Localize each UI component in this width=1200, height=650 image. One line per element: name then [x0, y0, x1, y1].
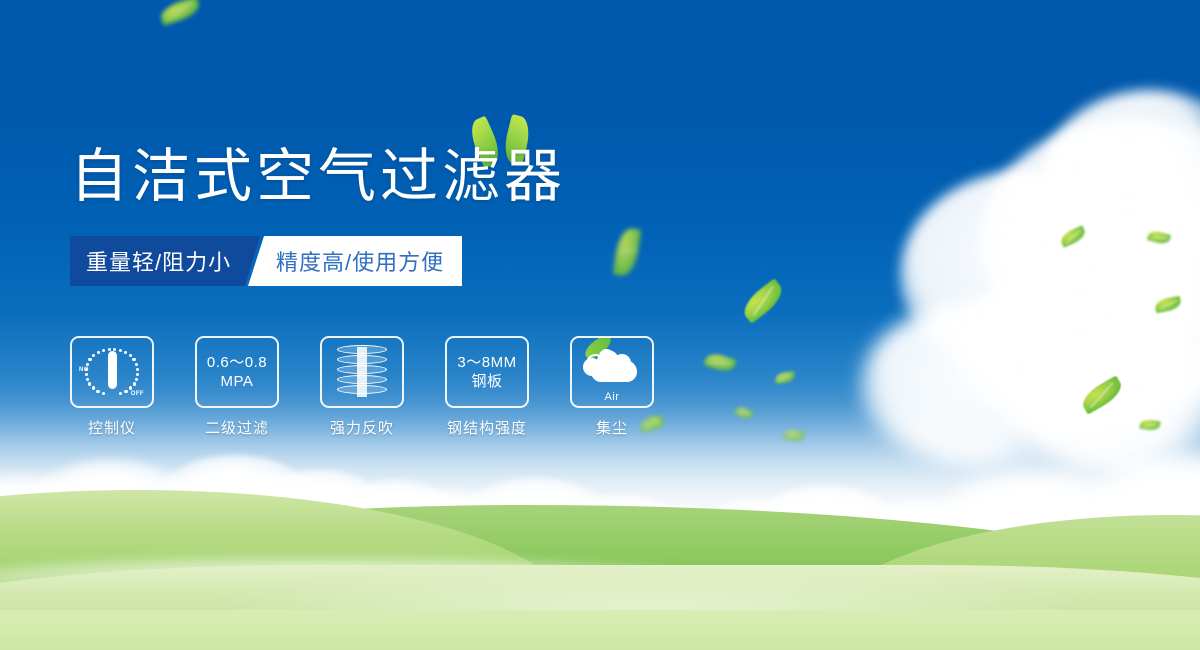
- filter-ring: [337, 385, 387, 394]
- gauge-tick: [97, 351, 100, 354]
- gauge-tick: [129, 354, 132, 357]
- feature-item-dust[interactable]: Air 集尘: [570, 336, 654, 438]
- gauge-tick: [124, 351, 127, 354]
- air-label: Air: [577, 391, 647, 403]
- gauge-tick: [96, 390, 99, 393]
- gauge-tick: [135, 378, 138, 381]
- steel-plate-icon: 3～8MM 钢板: [457, 353, 516, 391]
- steel-thickness: 3～8MM: [457, 353, 516, 372]
- filter-stack-icon: [337, 343, 387, 401]
- air-cloud-icon: Air: [577, 342, 647, 402]
- hero-content: 自洁式空气过滤器 重量轻/阻力小 精度高/使用方便 NO OFF 控制仪: [0, 0, 1200, 650]
- pressure-unit: MPA: [207, 372, 267, 391]
- gauge-tick: [119, 349, 122, 352]
- gauge-tick: [136, 368, 139, 371]
- filter-ring: [337, 375, 387, 384]
- gauge-tick: [102, 349, 105, 352]
- tagline-banner-left: 重量轻/阻力小: [70, 236, 260, 286]
- page-title: 自洁式空气过滤器: [70, 145, 566, 209]
- gauge-tick: [135, 363, 138, 366]
- gauge-tick: [124, 390, 127, 393]
- gauge-tick: [88, 382, 91, 385]
- gauge-tick: [119, 392, 122, 395]
- feature-label: 钢结构强度: [447, 417, 527, 438]
- filter-ring: [337, 345, 387, 354]
- feature-label: 控制仪: [88, 417, 136, 438]
- gauge-tick: [92, 354, 95, 357]
- pressure-value-icon: 0.6～0.8 MPA: [207, 353, 267, 391]
- gauge-tick: [85, 373, 88, 376]
- cloud-bump: [613, 354, 631, 372]
- feature-item-filtration[interactable]: 0.6～0.8 MPA 二级过滤: [195, 336, 279, 438]
- gauge-tick: [136, 373, 139, 376]
- cloud-swirl: [599, 349, 614, 364]
- tagline-left-text: 重量轻/阻力小: [86, 245, 231, 277]
- tagline-banner: 重量轻/阻力小 精度高/使用方便: [70, 236, 462, 286]
- feature-icon-box: 3～8MM 钢板: [445, 336, 529, 408]
- filter-ring: [337, 355, 387, 364]
- tagline-right-text: 精度高/使用方便: [276, 245, 444, 277]
- feature-icon-box: NO OFF: [70, 336, 154, 408]
- feature-label: 二级过滤: [205, 417, 269, 438]
- gauge-tick: [92, 386, 95, 389]
- gauge-tick: [86, 363, 89, 366]
- feature-icon-box: 0.6～0.8 MPA: [195, 336, 279, 408]
- feature-icon-box: [320, 336, 404, 408]
- gauge-tick: [86, 378, 89, 381]
- tagline-banner-right: 精度高/使用方便: [248, 236, 462, 286]
- gauge-label-off: OFF: [131, 391, 144, 397]
- feature-item-steel[interactable]: 3～8MM 钢板 钢结构强度: [445, 336, 529, 438]
- feature-label: 强力反吹: [330, 417, 394, 438]
- gauge-tick: [85, 368, 88, 371]
- feature-label: 集尘: [596, 417, 628, 438]
- gauge-tick: [113, 348, 116, 351]
- gauge-tick: [102, 392, 105, 395]
- gauge-dial-icon: NO OFF: [79, 343, 145, 401]
- gauge-tick: [132, 358, 135, 361]
- gauge-tick: [133, 382, 136, 385]
- feature-item-backblow[interactable]: 强力反吹: [320, 336, 404, 438]
- gauge-tick: [88, 358, 91, 361]
- filter-ring: [337, 365, 387, 374]
- gauge-tick: [108, 348, 111, 351]
- steel-material: 钢板: [457, 372, 516, 391]
- gauge-tick: [129, 386, 132, 389]
- feature-list: NO OFF 控制仪 0.6～0.8 MPA 二级过滤: [70, 336, 654, 438]
- feature-icon-box: Air: [570, 336, 654, 408]
- feature-item-controller[interactable]: NO OFF 控制仪: [70, 336, 154, 438]
- gauge-needle: [108, 351, 117, 389]
- pressure-range: 0.6～0.8: [207, 353, 267, 372]
